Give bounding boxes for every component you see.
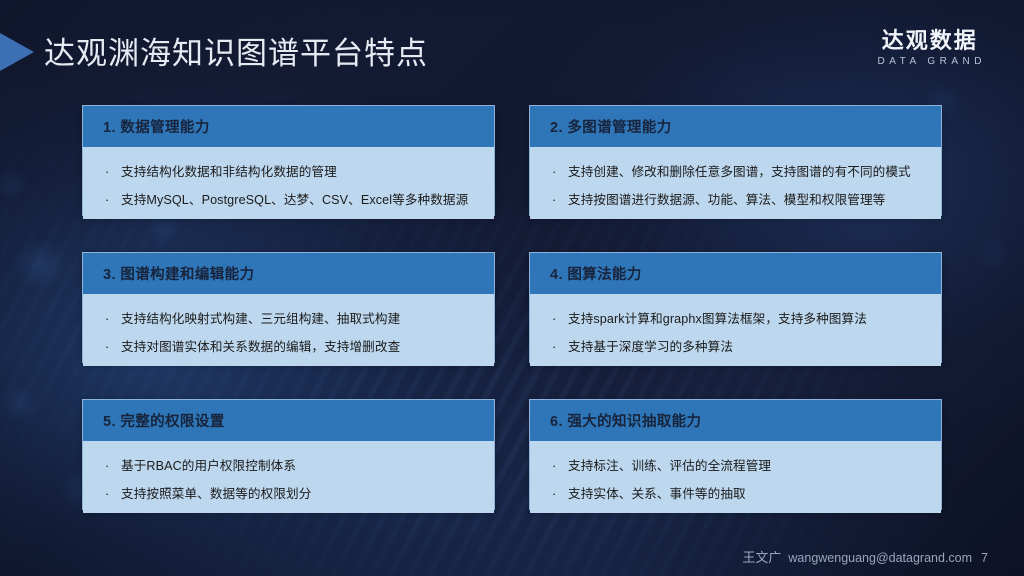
bullet-text: 基于RBAC的用户权限控制体系	[121, 457, 296, 475]
bullet-text: 支持实体、关系、事件等的抽取	[568, 485, 746, 503]
bullet-dot-icon: ·	[105, 191, 121, 209]
bullet-item: · 支持MySQL、PostgreSQL、达梦、CSV、Excel等多种数据源	[105, 191, 480, 209]
bullet-dot-icon: ·	[105, 163, 121, 181]
bullet-dot-icon: ·	[552, 485, 568, 503]
bullet-item: · 支持按图谱进行数据源、功能、算法、模型和权限管理等	[552, 191, 927, 209]
feature-card-title: 2. 多图谱管理能力	[550, 116, 672, 137]
feature-card: 1. 数据管理能力 · 支持结构化数据和非结构化数据的管理 · 支持MySQL、…	[82, 105, 495, 216]
bullet-text: 支持按图谱进行数据源、功能、算法、模型和权限管理等	[568, 191, 885, 209]
slide-footer: 王文广 wangwenguang@datagrand.com 7	[742, 547, 988, 566]
bullet-dot-icon: ·	[105, 338, 121, 356]
bullet-dot-icon: ·	[552, 457, 568, 475]
bullet-dot-icon: ·	[105, 310, 121, 328]
logo-name-en: DATA GRAND	[873, 56, 986, 67]
bullet-text: 支持创建、修改和删除任意多图谱，支持图谱的有不同的模式	[568, 163, 911, 181]
feature-card-header: 3. 图谱构建和编辑能力	[83, 253, 494, 294]
feature-card-header: 1. 数据管理能力	[83, 106, 494, 147]
slide-header: 达观渊海知识图谱平台特点 达观数据 DATA GRAND	[0, 0, 1024, 96]
bullet-dot-icon: ·	[105, 457, 121, 475]
bullet-item: · 支持按照菜单、数据等的权限划分	[105, 485, 480, 503]
feature-card-body: · 支持结构化映射式构建、三元组构建、抽取式构建 · 支持对图谱实体和关系数据的…	[83, 294, 494, 366]
brand-logo: 达观数据 DATA GRAND	[873, 28, 986, 67]
feature-card: 6. 强大的知识抽取能力 · 支持标注、训练、评估的全流程管理 · 支持实体、关…	[529, 399, 942, 510]
page-title: 达观渊海知识图谱平台特点	[44, 28, 428, 73]
feature-card: 4. 图算法能力 · 支持spark计算和graphx图算法框架，支持多种图算法…	[529, 252, 942, 363]
bullet-item: · 支持对图谱实体和关系数据的编辑，支持增删改查	[105, 338, 480, 356]
bullet-item: · 支持spark计算和graphx图算法框架，支持多种图算法	[552, 310, 927, 328]
feature-card-header: 6. 强大的知识抽取能力	[530, 400, 941, 441]
bullet-dot-icon: ·	[552, 191, 568, 209]
bullet-text: 支持结构化数据和非结构化数据的管理	[121, 163, 337, 181]
feature-card: 2. 多图谱管理能力 · 支持创建、修改和删除任意多图谱，支持图谱的有不同的模式…	[529, 105, 942, 216]
bullet-text: 支持MySQL、PostgreSQL、达梦、CSV、Excel等多种数据源	[121, 191, 468, 209]
bullet-text: 支持标注、训练、评估的全流程管理	[568, 457, 771, 475]
feature-card-title: 1. 数据管理能力	[103, 116, 210, 137]
feature-card-header: 2. 多图谱管理能力	[530, 106, 941, 147]
bullet-item: · 支持结构化数据和非结构化数据的管理	[105, 163, 480, 181]
logo-name-cn: 达观数据	[873, 28, 986, 53]
feature-card-body: · 支持结构化数据和非结构化数据的管理 · 支持MySQL、PostgreSQL…	[83, 147, 494, 219]
bullet-item: · 支持结构化映射式构建、三元组构建、抽取式构建	[105, 310, 480, 328]
bullet-text: 支持spark计算和graphx图算法框架，支持多种图算法	[568, 310, 867, 328]
feature-card-title: 4. 图算法能力	[550, 263, 642, 284]
feature-card-title: 6. 强大的知识抽取能力	[550, 410, 701, 431]
feature-card-header: 4. 图算法能力	[530, 253, 941, 294]
bullet-dot-icon: ·	[552, 163, 568, 181]
bullet-text: 支持结构化映射式构建、三元组构建、抽取式构建	[121, 310, 400, 328]
feature-card-body: · 基于RBAC的用户权限控制体系 · 支持按照菜单、数据等的权限划分	[83, 441, 494, 513]
bullet-dot-icon: ·	[552, 310, 568, 328]
footer-email: wangwenguang@datagrand.com	[788, 551, 972, 565]
bullet-item: · 支持基于深度学习的多种算法	[552, 338, 927, 356]
triangle-right-icon	[0, 33, 34, 71]
bullet-dot-icon: ·	[105, 485, 121, 503]
feature-card-grid: 1. 数据管理能力 · 支持结构化数据和非结构化数据的管理 · 支持MySQL、…	[82, 105, 942, 510]
bullet-item: · 基于RBAC的用户权限控制体系	[105, 457, 480, 475]
bullet-text: 支持基于深度学习的多种算法	[568, 338, 733, 356]
feature-card: 5. 完整的权限设置 · 基于RBAC的用户权限控制体系 · 支持按照菜单、数据…	[82, 399, 495, 510]
feature-card-body: · 支持创建、修改和删除任意多图谱，支持图谱的有不同的模式 · 支持按图谱进行数…	[530, 147, 941, 219]
feature-card-body: · 支持标注、训练、评估的全流程管理 · 支持实体、关系、事件等的抽取	[530, 441, 941, 513]
bullet-text: 支持按照菜单、数据等的权限划分	[121, 485, 311, 503]
feature-card-title: 3. 图谱构建和编辑能力	[103, 263, 254, 284]
bullet-item: · 支持实体、关系、事件等的抽取	[552, 485, 927, 503]
feature-card-body: · 支持spark计算和graphx图算法框架，支持多种图算法 · 支持基于深度…	[530, 294, 941, 366]
bullet-item: · 支持创建、修改和删除任意多图谱，支持图谱的有不同的模式	[552, 163, 927, 181]
slide-canvas: 达观渊海知识图谱平台特点 达观数据 DATA GRAND 1. 数据管理能力 ·…	[0, 0, 1024, 576]
footer-author: 王文广	[742, 547, 781, 566]
bullet-dot-icon: ·	[552, 338, 568, 356]
bullet-item: · 支持标注、训练、评估的全流程管理	[552, 457, 927, 475]
page-number: 7	[979, 551, 988, 565]
feature-card: 3. 图谱构建和编辑能力 · 支持结构化映射式构建、三元组构建、抽取式构建 · …	[82, 252, 495, 363]
bullet-text: 支持对图谱实体和关系数据的编辑，支持增删改查	[121, 338, 400, 356]
feature-card-header: 5. 完整的权限设置	[83, 400, 494, 441]
feature-card-title: 5. 完整的权限设置	[103, 410, 225, 431]
